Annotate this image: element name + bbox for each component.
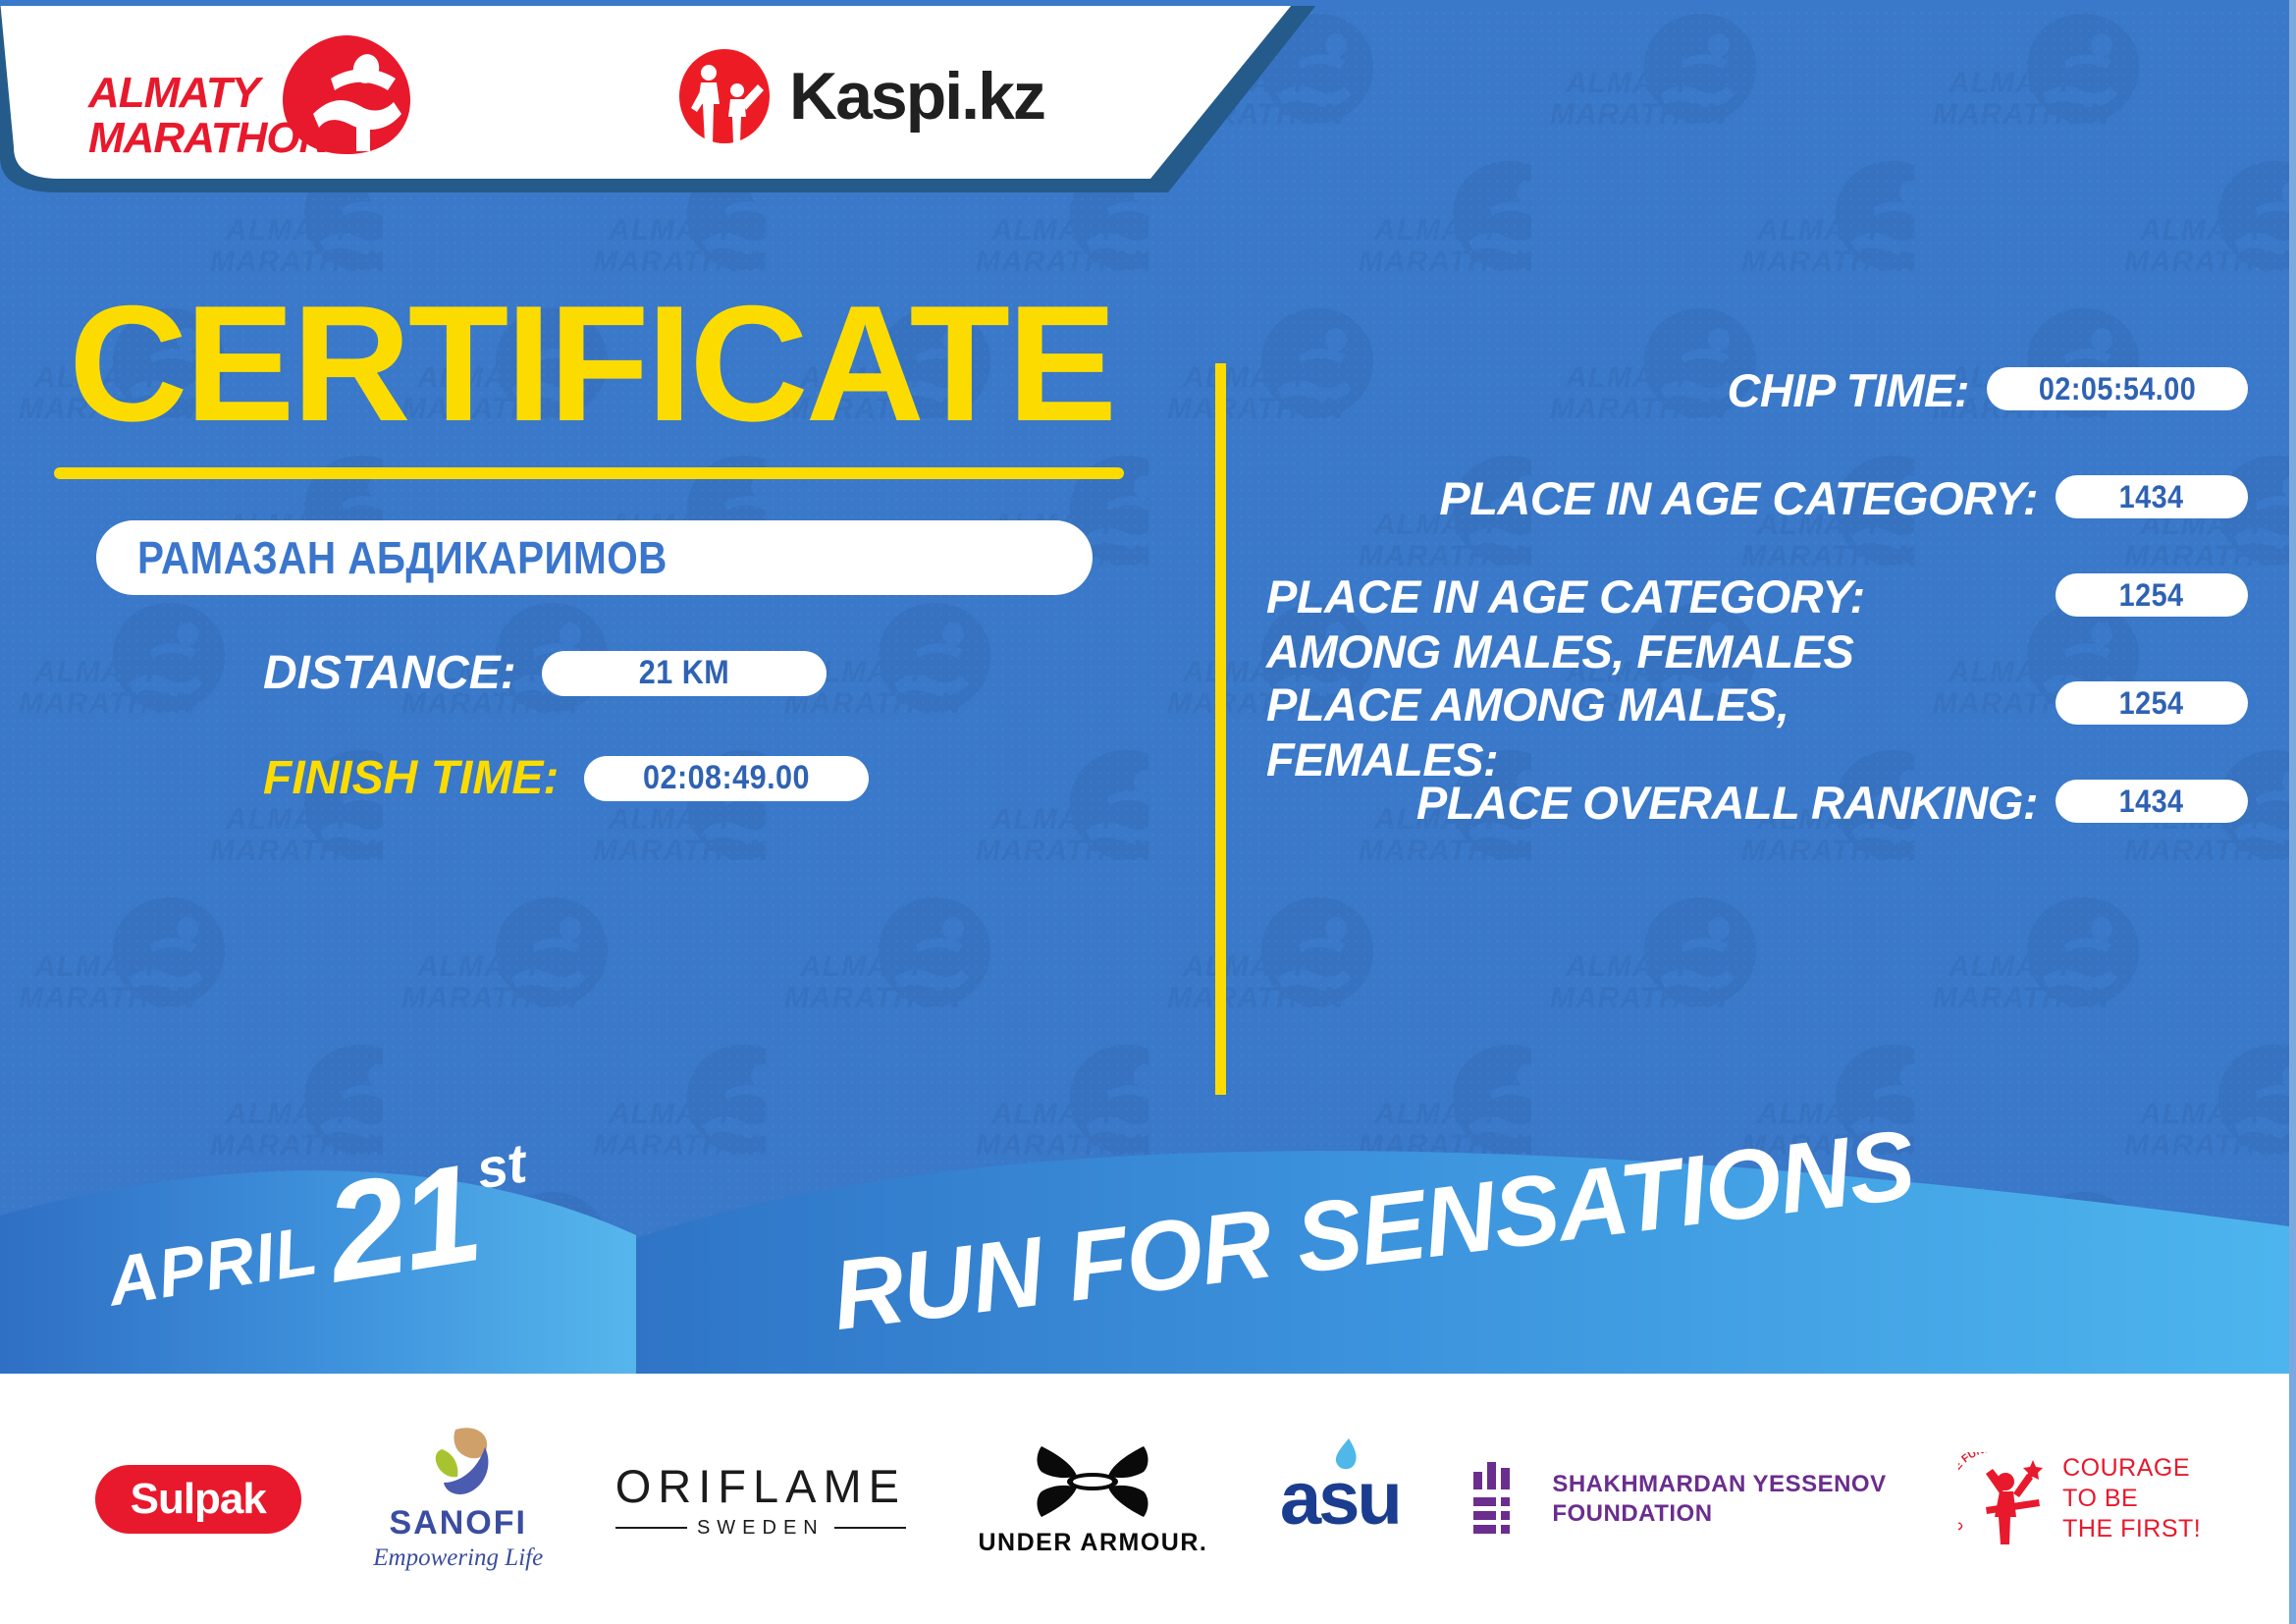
oriflame-sweden-row: SWEDEN xyxy=(615,1517,906,1540)
stat-value: 1254 xyxy=(2119,577,2184,614)
distance-label: DISTANCE: xyxy=(263,646,516,700)
oriflame-rule-left xyxy=(615,1527,687,1529)
yessenov-line-2: FOUNDATION xyxy=(1552,1499,1886,1529)
oriflame-name: ORIFLAME xyxy=(615,1459,906,1513)
courage-line-3: THE FIRST! xyxy=(2062,1514,2201,1544)
runner-name-field: РАМАЗАН АБДИКАРИМОВ xyxy=(96,520,1093,595)
runner-name-value: РАМАЗАН АБДИКАРИМОВ xyxy=(137,531,667,584)
svg-text:CORPORATE FUND: CORPORATE FUND xyxy=(1958,1452,1993,1533)
distance-row: DISTANCE: 21 KM xyxy=(263,646,1193,700)
stat-label-line: PLACE IN AGE CATEGORY: xyxy=(1266,471,2038,526)
courage-text: COURAGE TO BE THE FIRST! xyxy=(2062,1453,2201,1544)
running-person-icon xyxy=(280,33,412,156)
sponsor-corporate-fund: CORPORATE FUND COURAGE TO BE THE FIRST! xyxy=(1958,1452,2201,1546)
distance-value: 21 KM xyxy=(556,654,812,692)
yessenov-line-1: SHAKHMARDAN YESSENOV xyxy=(1552,1470,1886,1499)
header-bar: ALMATY MARATHON xyxy=(0,0,1320,192)
stat-value: 1254 xyxy=(2119,685,2184,722)
stat-row: PLACE IN AGE CATEGORY:1434 xyxy=(1266,471,2248,526)
stat-value: 02:05:54.00 xyxy=(2039,371,2196,407)
sponsor-oriflame: ORIFLAME SWEDEN xyxy=(615,1459,906,1540)
stat-label: PLACE IN AGE CATEGORY: xyxy=(1266,471,2038,526)
finish-time-label: FINISH TIME: xyxy=(263,751,559,805)
title-underline xyxy=(54,467,1124,479)
finish-time-row: FINISH TIME: 02:08:49.00 xyxy=(263,751,1193,805)
stat-value-pill: 1434 xyxy=(2056,780,2248,823)
sulpak-logo: Sulpak xyxy=(95,1465,301,1534)
stat-label: PLACE AMONG MALES,FEMALES: xyxy=(1266,677,2038,787)
sponsor-sulpak: Sulpak xyxy=(95,1465,301,1534)
finish-time-value: 02:08:49.00 xyxy=(599,759,855,797)
sulpak-wordmark: Sulpak xyxy=(131,1475,266,1524)
courage-person-icon: CORPORATE FUND xyxy=(1958,1452,2049,1546)
yessenov-name: SHAKHMARDAN YESSENOV FOUNDATION xyxy=(1552,1470,1886,1529)
kaspi-people-icon xyxy=(677,47,772,145)
sponsor-under-armour: UNDER ARMOUR. xyxy=(978,1440,1207,1557)
certificate-canvas: ALMATY MARATHON ALMATY MARATHON xyxy=(0,0,2296,1624)
asu-wordmark: asu xyxy=(1280,1456,1400,1542)
under-armour-name: UNDER ARMOUR. xyxy=(978,1529,1207,1557)
stat-value: 1434 xyxy=(2119,479,2184,515)
kaspi-logo: Kaspi.kz xyxy=(677,47,1044,145)
stat-row: PLACE AMONG MALES,FEMALES:1254 xyxy=(1266,677,2248,787)
ribbon-day: 21 xyxy=(319,1151,486,1295)
stat-label: PLACE OVERALL RANKING: xyxy=(1266,776,2038,831)
sponsor-yessenov-foundation: SHAKHMARDAN YESSENOV FOUNDATION xyxy=(1471,1458,1886,1541)
oriflame-sub: SWEDEN xyxy=(697,1517,825,1540)
sponsor-bar: Sulpak SANOFI Empowering Life ORIFLAME S… xyxy=(0,1374,2296,1624)
right-border-line xyxy=(2289,0,2296,1624)
vertical-divider xyxy=(1215,363,1226,1095)
page-title: CERTIFICATE xyxy=(69,285,1193,442)
stat-label: PLACE IN AGE CATEGORY:AMONG MALES, FEMAL… xyxy=(1266,569,2038,679)
stat-label-line: PLACE IN AGE CATEGORY: xyxy=(1266,569,2038,624)
stat-value-pill: 1434 xyxy=(2056,475,2248,518)
top-border-line xyxy=(0,0,2296,6)
asu-drop-icon xyxy=(1333,1438,1359,1472)
left-column: CERTIFICATE РАМАЗАН АБДИКАРИМОВ DISTANCE… xyxy=(0,226,1193,805)
sanofi-name: SANOFI xyxy=(390,1504,527,1543)
almaty-marathon-logo: ALMATY MARATHON xyxy=(88,33,412,161)
stat-label-line: PLACE AMONG MALES, xyxy=(1266,677,2038,732)
stat-label-line: CHIP TIME: xyxy=(1266,363,1969,418)
stat-value-pill: 02:05:54.00 xyxy=(1987,367,2248,410)
courage-line-1: COURAGE xyxy=(2062,1453,2201,1484)
stat-row: PLACE OVERALL RANKING:1434 xyxy=(1266,776,2248,831)
stat-row: CHIP TIME:02:05:54.00 xyxy=(1266,363,2248,418)
stat-label: CHIP TIME: xyxy=(1266,363,1969,418)
stat-value-pill: 1254 xyxy=(2056,681,2248,725)
stat-value: 1434 xyxy=(2119,784,2184,820)
courage-line-2: TO BE xyxy=(2062,1484,2201,1514)
sanofi-tagline: Empowering Life xyxy=(373,1544,543,1572)
finish-time-value-pill: 02:08:49.00 xyxy=(584,756,869,801)
kaspi-wordmark: Kaspi.kz xyxy=(789,58,1044,135)
stat-value-pill: 1254 xyxy=(2056,573,2248,617)
under-armour-icon xyxy=(1034,1440,1151,1523)
oriflame-rule-right xyxy=(834,1527,906,1529)
sponsor-asu: asu xyxy=(1280,1456,1400,1542)
stat-label-line: AMONG MALES, FEMALES xyxy=(1266,624,2038,679)
sanofi-icon xyxy=(416,1426,501,1500)
yessenov-mark-icon xyxy=(1471,1458,1532,1541)
stat-label-line: PLACE OVERALL RANKING: xyxy=(1266,776,2038,831)
sponsor-sanofi: SANOFI Empowering Life xyxy=(373,1426,543,1572)
distance-value-pill: 21 KM xyxy=(542,651,827,696)
stat-row: PLACE IN AGE CATEGORY:AMONG MALES, FEMAL… xyxy=(1266,569,2248,679)
